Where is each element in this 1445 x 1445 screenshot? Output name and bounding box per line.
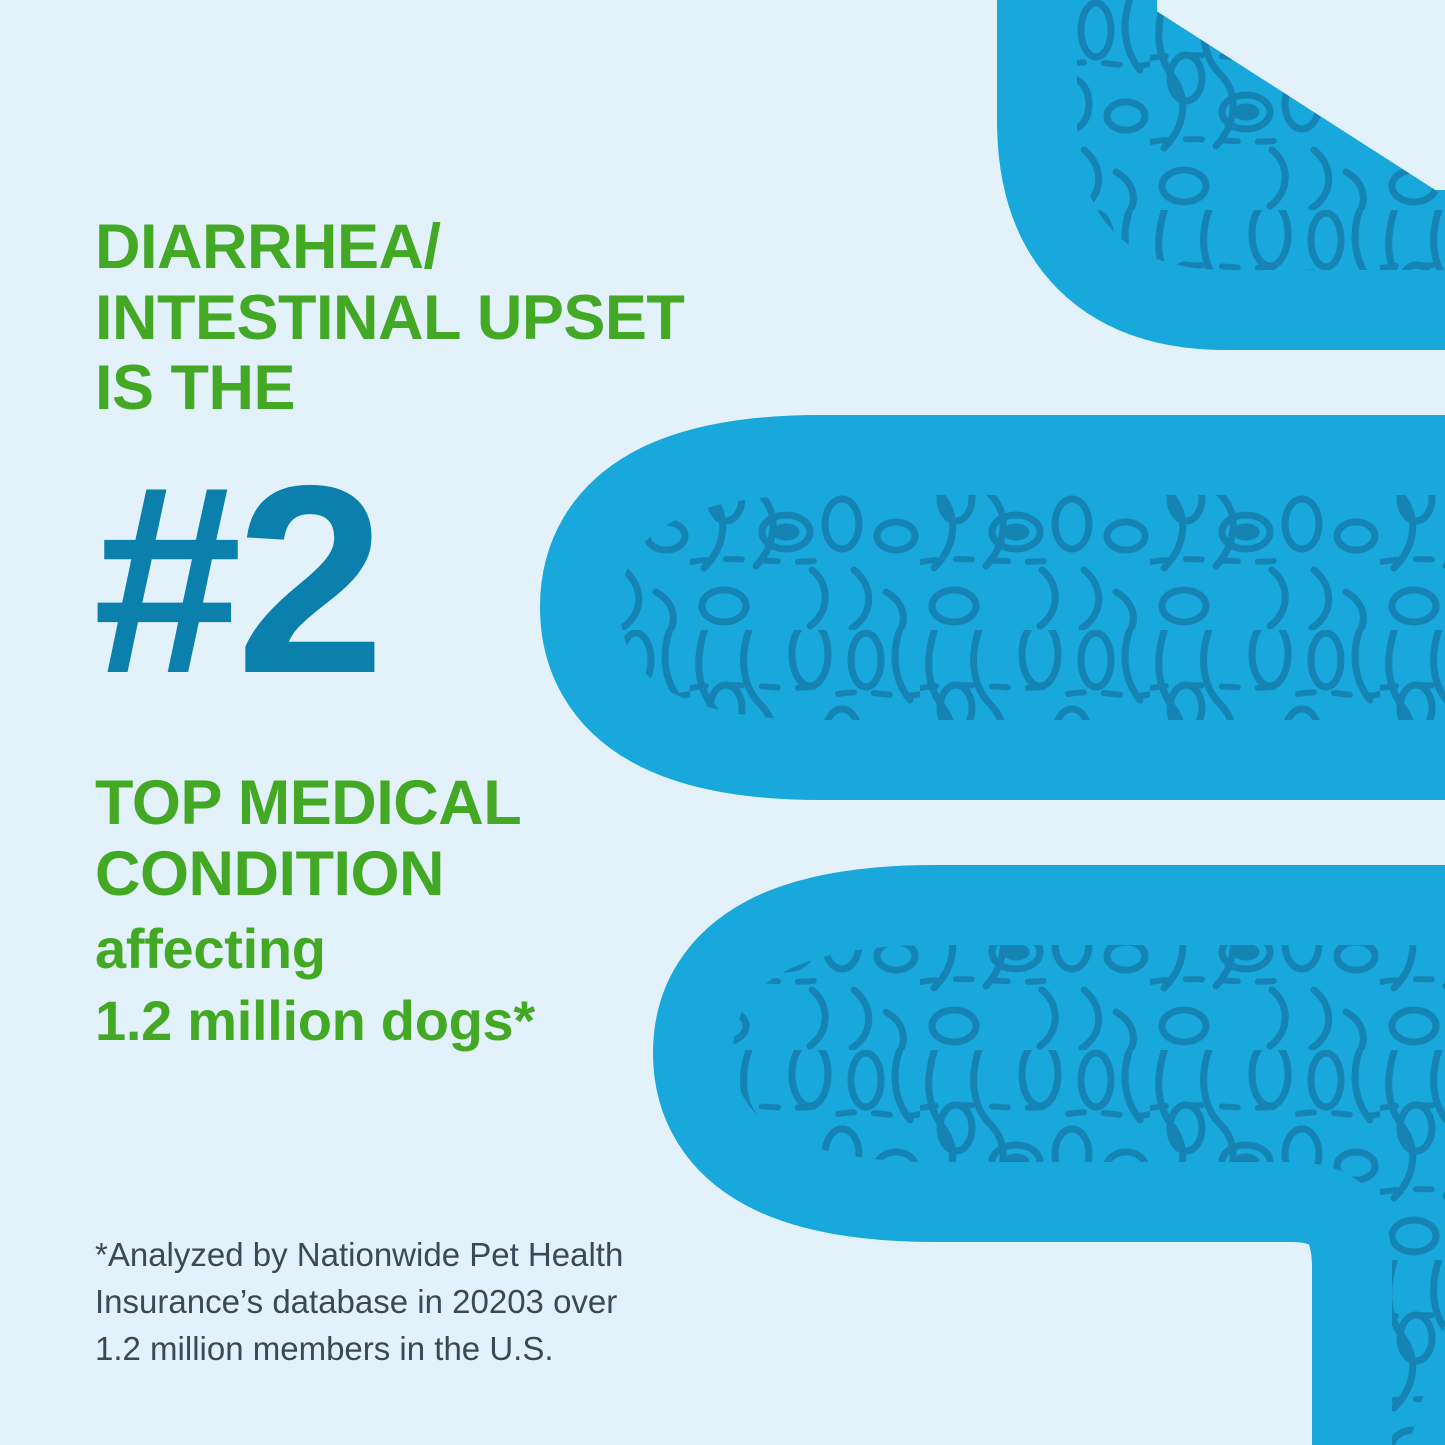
headline: DIARRHEA/ INTESTINAL UPSET IS THE [95, 212, 684, 424]
text-column: DIARRHEA/ INTESTINAL UPSET IS THE #2 TOP… [95, 0, 795, 1445]
subheadline: TOP MEDICAL CONDITION [95, 768, 521, 909]
affecting-text: affecting 1.2 million dogs* [95, 913, 535, 1056]
infographic-poster: DIARRHEA/ INTESTINAL UPSET IS THE #2 TOP… [0, 0, 1445, 1445]
rank-number: #2 [93, 452, 379, 707]
footnote: *Analyzed by Nationwide Pet Health Insur… [95, 1232, 623, 1373]
